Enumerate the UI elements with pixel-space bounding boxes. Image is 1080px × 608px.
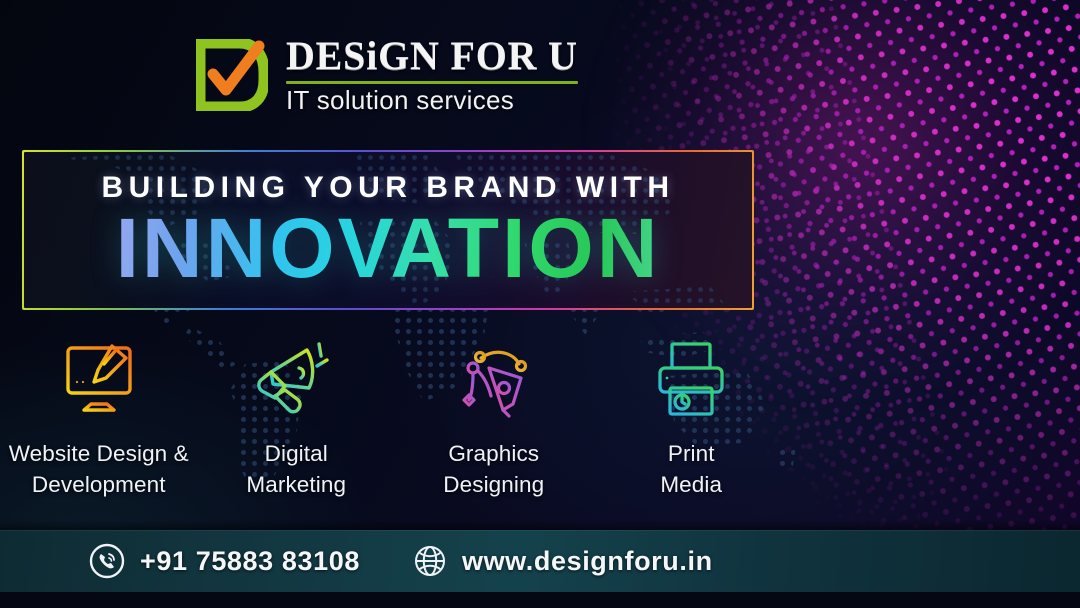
checkbox-check-logo-icon (196, 39, 268, 111)
promotional-banner: DESiGN FOR U IT solution services (0, 0, 1080, 608)
phone-call-icon (88, 542, 126, 580)
service-label-line1: Website Design & (9, 438, 189, 469)
service-label: Graphics Designing (443, 438, 544, 500)
footer-bottom-strip (0, 592, 1080, 608)
contact-phone[interactable]: +91 75883 83108 (88, 542, 360, 580)
service-label-line1: Graphics (443, 438, 544, 469)
headline-frame: BUILDING YOUR BRAND WITH INNOVATION (22, 150, 754, 310)
globe-icon (412, 543, 448, 579)
service-label-line2: Marketing (246, 469, 346, 500)
printer-icon (648, 336, 734, 422)
services-list: Website Design & Development (0, 336, 790, 516)
service-label: Digital Marketing (246, 438, 346, 500)
hero-kicker: BUILDING YOUR BRAND WITH (101, 171, 674, 205)
service-label-line1: Digital (246, 438, 346, 469)
service-label-line2: Designing (443, 469, 544, 500)
service-item-print-media: Print Media (593, 336, 791, 500)
pen-tool-bezier-icon (451, 336, 537, 422)
hero-headline: INNOVATION (116, 207, 661, 289)
website-url: www.designforu.in (462, 546, 713, 577)
contact-footer: +91 75883 83108 www.designforu.in (0, 530, 1080, 592)
service-label-line2: Development (9, 469, 189, 500)
service-label: Print Media (660, 438, 722, 500)
service-label-line2: Media (660, 469, 722, 500)
monitor-paintbrush-icon (56, 336, 142, 422)
brand-divider (286, 81, 578, 84)
service-label-line1: Print (660, 438, 722, 469)
phone-number: +91 75883 83108 (140, 546, 360, 577)
contact-website[interactable]: www.designforu.in (412, 543, 713, 579)
service-item-digital-marketing: Digital Marketing (198, 336, 396, 500)
service-item-website-design: Website Design & Development (0, 336, 198, 500)
brand-tagline: IT solution services (286, 87, 578, 114)
service-item-graphics-designing: Graphics Designing (395, 336, 593, 500)
brand-name: DESiGN FOR U (286, 36, 578, 76)
megaphone-icon (253, 336, 339, 422)
service-label: Website Design & Development (9, 438, 189, 500)
brand-logo: DESiGN FOR U IT solution services (196, 36, 578, 114)
